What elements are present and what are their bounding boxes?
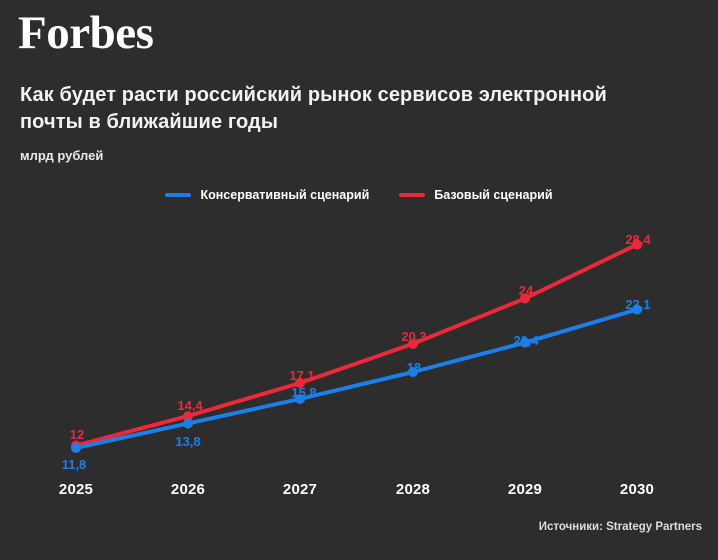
series-line-conservative — [76, 310, 637, 448]
x-axis-tick-2029: 2029 — [508, 481, 542, 498]
x-axis-tick-2026: 2026 — [171, 481, 205, 498]
value-label-conservative-2029: 20,4 — [513, 333, 538, 348]
value-label-base-2028: 20,3 — [401, 329, 426, 344]
value-label-conservative-2027: 15,8 — [291, 385, 316, 400]
series-line-base — [76, 245, 637, 446]
line-conservative — [76, 310, 637, 448]
x-axis-tick-labels: 202520262027202820292030 — [0, 481, 718, 501]
data-point-conservative-2026[interactable] — [183, 418, 193, 428]
data-point-conservative-2025[interactable] — [71, 443, 81, 453]
value-label-base-2030: 28,4 — [625, 232, 650, 247]
source-note: Источники: Strategy Partners — [539, 521, 702, 533]
x-axis-tick-2028: 2028 — [396, 481, 430, 498]
value-label-conservative-2026: 13,8 — [175, 434, 200, 449]
value-label-base-2025: 12 — [70, 427, 84, 442]
x-axis-tick-2027: 2027 — [283, 481, 317, 498]
series-markers-base — [71, 240, 642, 451]
value-label-conservative-2025: 11,8 — [62, 457, 87, 472]
value-label-base-2026: 14,4 — [177, 398, 202, 413]
line-chart-plot — [0, 0, 718, 560]
x-axis-tick-2030: 2030 — [620, 481, 654, 498]
line-base — [76, 245, 637, 446]
chart-page: Forbes Как будет расти российский рынок … — [0, 0, 718, 560]
x-axis-tick-2025: 2025 — [59, 481, 93, 498]
value-label-conservative-2030: 23,1 — [625, 297, 650, 312]
value-label-conservative-2028: 18 — [407, 360, 421, 375]
value-label-base-2027: 17,1 — [289, 368, 314, 383]
value-label-base-2029: 24 — [519, 283, 533, 298]
